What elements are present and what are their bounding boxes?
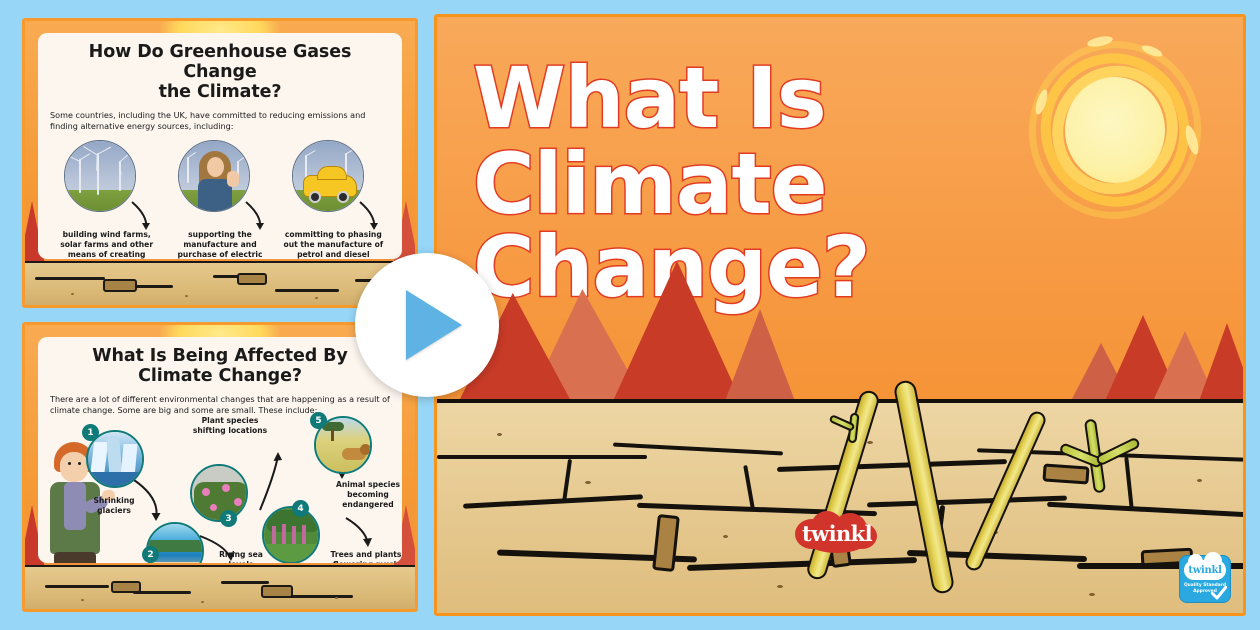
step-number-badge: 2 (142, 546, 159, 563)
caption-item: building wind farms, solar farms and oth… (50, 230, 163, 259)
slide-title-line1: What Is Being Affected By (92, 346, 347, 366)
caption-item: supporting the manufacture and purchase … (163, 230, 276, 259)
hero-slide-preview[interactable]: What Is Climate Change? (434, 14, 1246, 616)
hero-title-line1: What Is (473, 49, 826, 147)
twinkl-logo-text: twinkl (802, 521, 872, 546)
caption-item: committing to phasing out the manufactur… (277, 230, 390, 259)
twinkl-badge-brand: twinkl (1188, 565, 1221, 576)
step-number-badge: 3 (220, 510, 237, 527)
twinkl-cloud-icon: twinkl (1184, 560, 1226, 580)
node-label: Trees and plants flowering much earlier … (314, 550, 402, 563)
slide-title: What Is Being Affected By Climate Change… (50, 347, 390, 387)
slide-intro-text: There are a lot of different environment… (50, 394, 390, 416)
check-icon (1211, 586, 1227, 600)
slide-title: How Do Greenhouse Gases Change the Clima… (50, 43, 390, 103)
slide-title-line1: How Do Greenhouse Gases Change (89, 42, 352, 82)
slide-thumbnail-what-is-affected[interactable]: What Is Being Affected By Climate Change… (22, 322, 418, 612)
node-label: Animal species becoming endangered (318, 480, 402, 510)
slide-content-card: What Is Being Affected By Climate Change… (38, 337, 402, 563)
desert-ground (25, 261, 415, 305)
slide-intro-text: Some countries, including the UK, have c… (50, 110, 390, 132)
node-label: Plant species shifting locations (178, 416, 282, 436)
caption-row: building wind farms, solar farms and oth… (50, 230, 390, 259)
play-video-button[interactable] (355, 253, 499, 397)
twinkl-quality-badge: twinkl Quality Standard Approved (1179, 555, 1231, 603)
mountain-range (437, 251, 1243, 401)
curved-arrow-icon (50, 200, 402, 234)
twinkl-logo: twinkl (789, 509, 885, 557)
blossom-trees-photo (262, 506, 320, 563)
node-label: Shrinking glaciers (72, 496, 156, 516)
play-triangle-icon (406, 290, 462, 360)
slide-title-line2: the Climate? (159, 82, 282, 102)
slide-title-line2: Climate Change? (138, 366, 302, 386)
slide-thumbnail-greenhouse-gases[interactable]: How Do Greenhouse Gases Change the Clima… (22, 18, 418, 308)
slide-content-card: How Do Greenhouse Gases Change the Clima… (38, 33, 402, 259)
flowering-plant-photo (190, 464, 248, 522)
desert-ground (25, 565, 415, 609)
node-label: Rising sea levels (210, 550, 272, 563)
diagram-area: 1 Shrinking glaciers 2 Rising sea levels (50, 418, 390, 563)
